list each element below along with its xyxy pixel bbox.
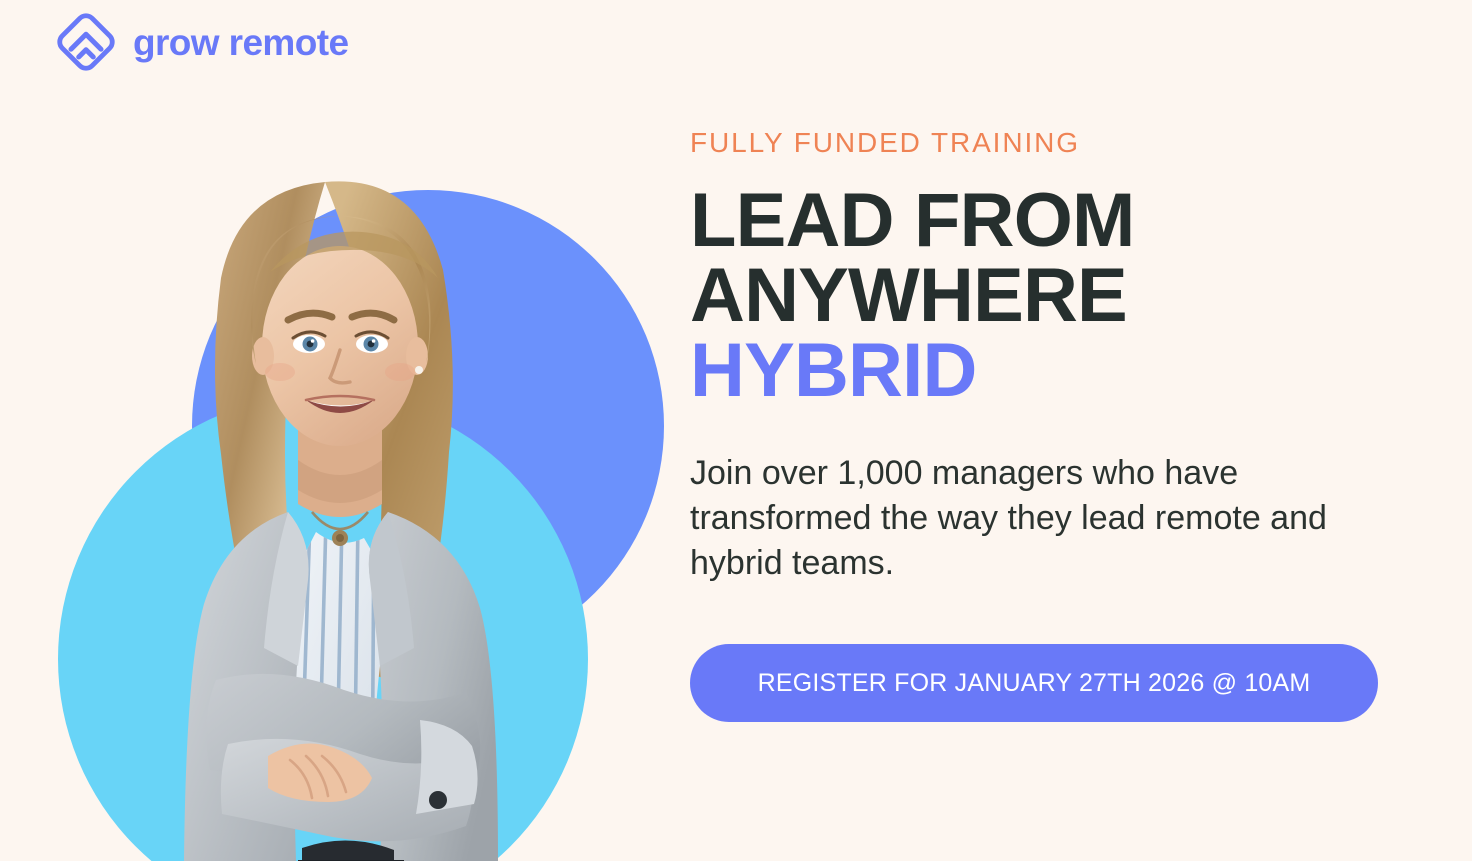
headline-accent: HYBRID: [690, 333, 1410, 408]
eyebrow-label: FULLY FUNDED TRAINING: [690, 128, 1410, 159]
businesswoman-portrait-image: [120, 160, 560, 861]
hero-visual: [0, 0, 680, 861]
portrait-container: [0, 0, 680, 861]
promo-banner: grow remote: [0, 0, 1472, 861]
page-title: LEAD FROM ANYWHERE HYBRID: [690, 183, 1410, 409]
subhead-text: Join over 1,000 managers who have transf…: [690, 451, 1410, 587]
headline-line-1: LEAD FROM: [690, 183, 1410, 258]
register-button[interactable]: REGISTER FOR JANUARY 27TH 2026 @ 10AM: [690, 644, 1378, 722]
hero-content: FULLY FUNDED TRAINING LEAD FROM ANYWHERE…: [690, 128, 1410, 722]
headline-line-2: ANYWHERE: [690, 258, 1410, 333]
